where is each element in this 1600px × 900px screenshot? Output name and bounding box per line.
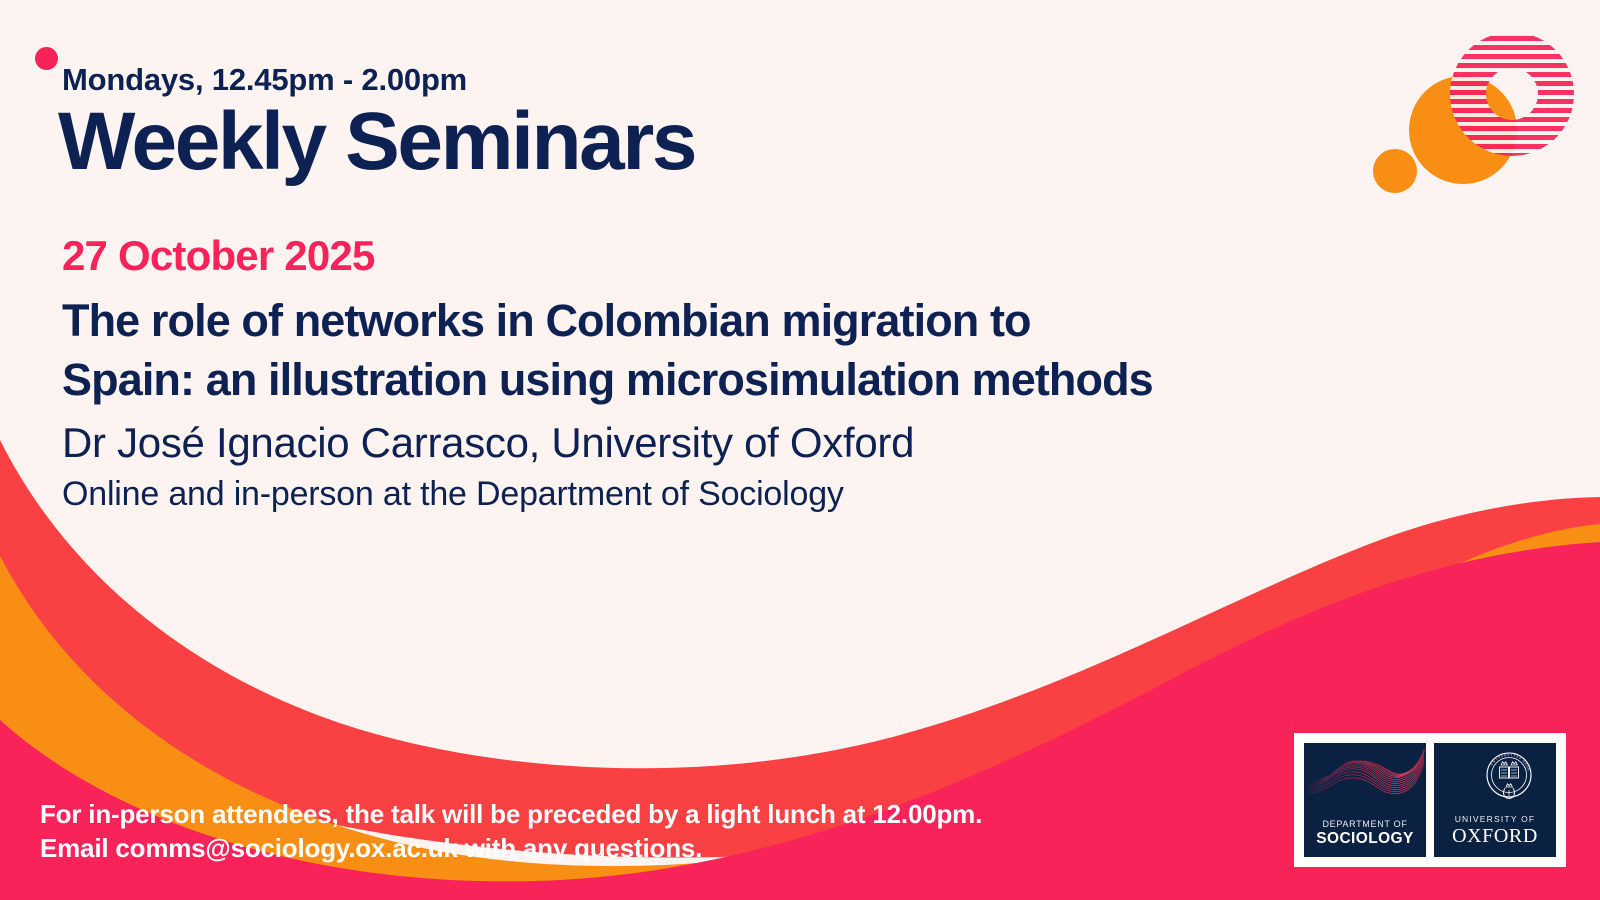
sociology-logo-small-text: DEPARTMENT OF bbox=[1304, 819, 1426, 829]
sociology-logo-caption: DEPARTMENT OF SOCIOLOGY bbox=[1304, 819, 1426, 848]
page-title: Weekly Seminars bbox=[58, 99, 695, 185]
seminar-poster: Mondays, 12.45pm - 2.00pm Weekly Seminar… bbox=[0, 0, 1600, 900]
talk-title-line-1: The role of networks in Colombian migrat… bbox=[62, 291, 1512, 350]
footer-note-line-2: Email comms@sociology.ox.ac.uk with any … bbox=[40, 831, 982, 865]
attendance-mode: Online and in-person at the Department o… bbox=[62, 475, 844, 514]
talk-title-line-2: Spain: an illustration using microsimula… bbox=[62, 350, 1512, 409]
pink-dot-icon bbox=[35, 47, 58, 70]
talk-title: The role of networks in Colombian migrat… bbox=[62, 291, 1512, 409]
oxford-logo-big-text: OXFORD bbox=[1434, 825, 1556, 848]
svg-text:S: S bbox=[1518, 756, 1522, 760]
department-of-sociology-logo: DEPARTMENT OF SOCIOLOGY bbox=[1304, 743, 1426, 857]
event-date: 27 October 2025 bbox=[62, 232, 375, 280]
oxford-crest-icon: U N I V E R S I T A S O X O N bbox=[1434, 743, 1556, 809]
oxford-logo-caption: UNIVERSITY OF OXFORD bbox=[1434, 814, 1556, 848]
schedule-kicker: Mondays, 12.45pm - 2.00pm bbox=[62, 62, 467, 98]
oxford-logo-small-text: UNIVERSITY OF bbox=[1434, 814, 1556, 824]
sociology-logo-big-text: SOCIOLOGY bbox=[1304, 830, 1426, 848]
footer-note-line-1: For in-person attendees, the talk will b… bbox=[40, 797, 982, 831]
sociology-wave-icon bbox=[1304, 743, 1426, 809]
logo-lockup: DEPARTMENT OF SOCIOLOGY U N I V E R S bbox=[1294, 733, 1566, 867]
footer-note: For in-person attendees, the talk will b… bbox=[40, 797, 982, 865]
university-of-oxford-logo: U N I V E R S I T A S O X O N bbox=[1434, 743, 1556, 857]
speaker-name: Dr José Ignacio Carrasco, University of … bbox=[62, 419, 914, 467]
